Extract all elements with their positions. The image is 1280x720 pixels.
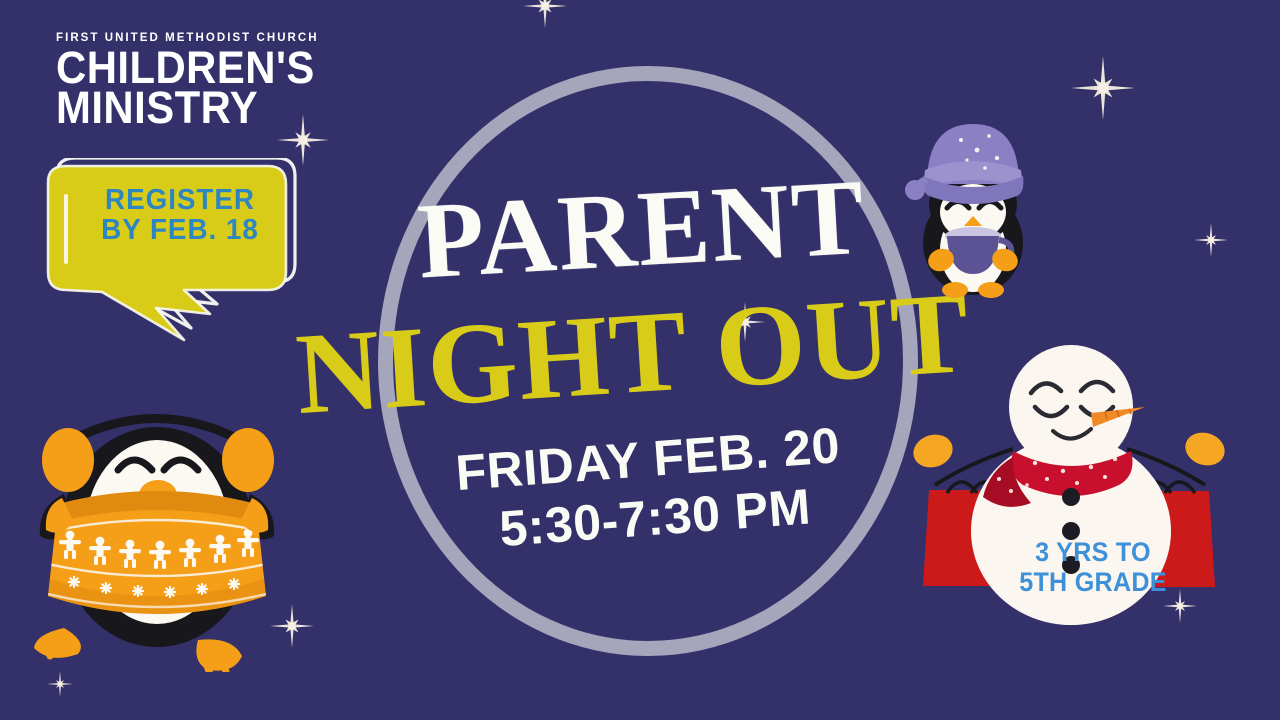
star-penguin-right-icon bbox=[228, 506, 258, 536]
star-bottom-left-icon bbox=[270, 604, 314, 648]
ages-line-1: 3 YRS TO bbox=[1014, 538, 1172, 568]
register-bubble-text: REGISTER BY FEB. 18 bbox=[84, 186, 276, 245]
register-line-1: REGISTER bbox=[84, 186, 276, 216]
star-top-center-icon bbox=[523, 0, 567, 28]
flyer-canvas: FIRST UNITED METHODIST CHURCH CHILDREN'S… bbox=[0, 0, 1280, 720]
star-bottom-mid-icon bbox=[47, 671, 73, 697]
logo-line-ministry: MINISTRY bbox=[56, 89, 335, 127]
ages-line-2: 5TH GRADE bbox=[1014, 568, 1172, 598]
ages-range-text: 3 YRS TO 5TH GRADE bbox=[1014, 538, 1172, 597]
church-logo: FIRST UNITED METHODIST CHURCH CHILDREN'S… bbox=[56, 32, 356, 127]
star-upper-right-icon bbox=[1071, 56, 1135, 120]
star-right-mid-icon bbox=[1194, 223, 1228, 257]
register-line-2: BY FEB. 18 bbox=[84, 216, 276, 246]
